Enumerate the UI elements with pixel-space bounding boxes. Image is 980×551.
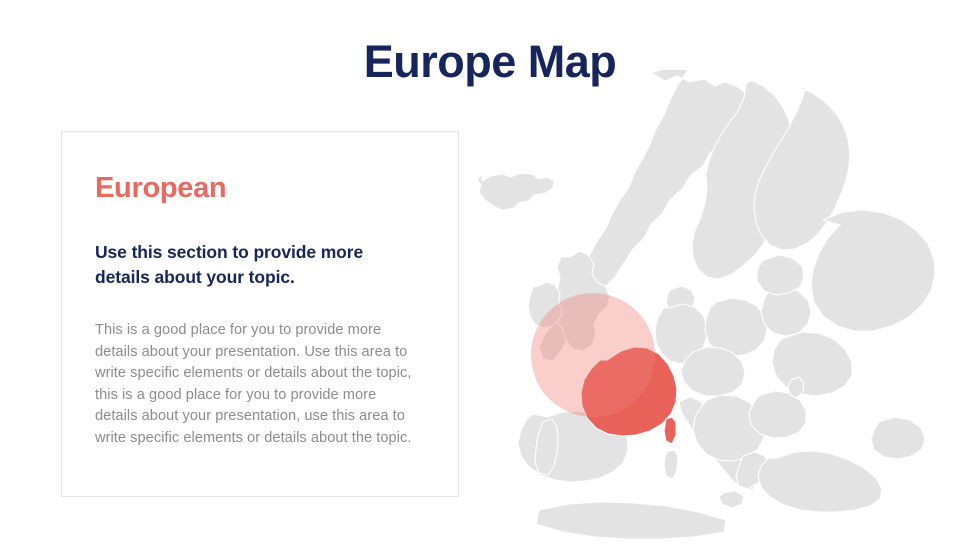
map-callout-circle <box>531 293 655 417</box>
panel-heading: European <box>95 173 226 205</box>
map-region-caucasus <box>871 417 925 459</box>
panel-body-text: This is a good place for you to provide … <box>95 320 422 450</box>
map-region-moldova <box>788 377 804 398</box>
map-region-north-africa <box>536 502 726 539</box>
map-region-ukraine <box>772 332 852 396</box>
europe-map: 70% <box>455 70 980 551</box>
slide-canvas: Europe Map European Use this section to … <box>0 0 980 551</box>
map-region-corsica-highlighted[interactable] <box>664 417 676 444</box>
map-region-belarus <box>761 287 811 336</box>
map-region-turkey <box>758 451 882 512</box>
map-region-iceland <box>477 173 554 210</box>
map-region-sicily <box>719 491 744 508</box>
text-panel: European Use this section to provide mor… <box>61 131 459 497</box>
europe-map-svg <box>455 70 980 551</box>
map-region-baltic-states <box>757 255 804 295</box>
map-region-sardinia <box>664 450 678 479</box>
map-region-russia-west <box>811 210 935 331</box>
panel-subheading: Use this section to provide more details… <box>95 240 415 291</box>
